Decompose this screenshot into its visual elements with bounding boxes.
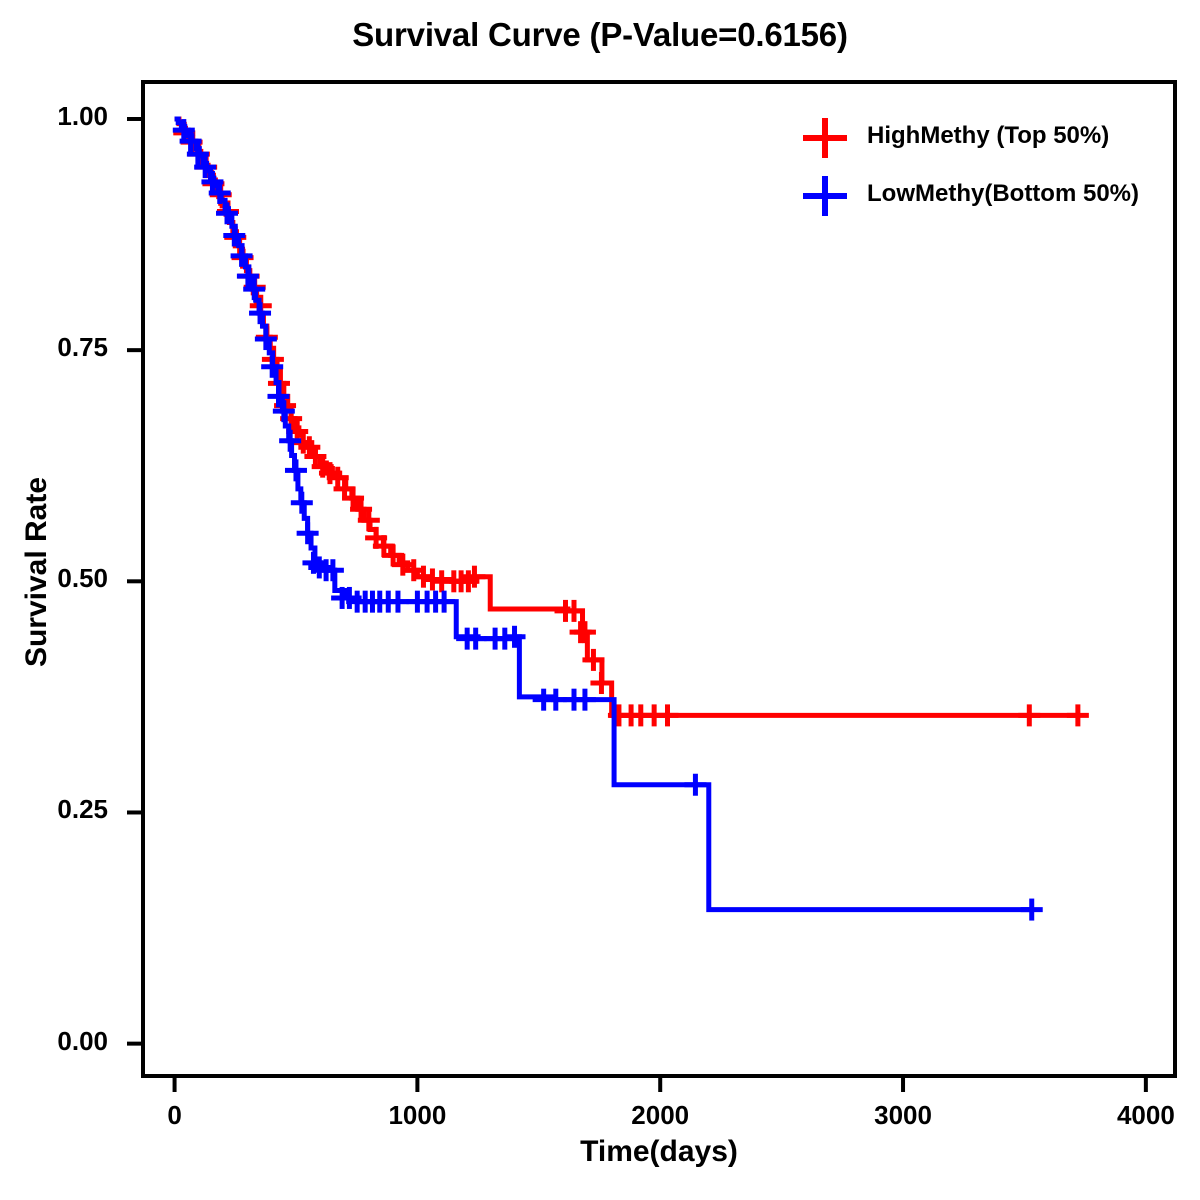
tick-marks: [127, 119, 1146, 1092]
axis-frame: [143, 82, 1175, 1076]
x-tick-label: 3000: [843, 1100, 963, 1131]
x-tick-label: 1000: [357, 1100, 477, 1131]
y-tick-label: 0.75: [18, 332, 108, 363]
survival-curve-figure: Survival Curve (P-Value=0.6156) Survival…: [0, 0, 1200, 1200]
legend-item-0: HighMethy (Top 50%): [867, 122, 1109, 150]
x-tick-label: 4000: [1086, 1100, 1200, 1131]
y-tick-label: 0.25: [18, 794, 108, 825]
x-tick-label: 2000: [600, 1100, 720, 1131]
series-layer: [173, 119, 1089, 921]
legend-item-1: LowMethy(Bottom 50%): [867, 180, 1139, 208]
y-tick-label: 0.50: [18, 563, 108, 594]
legend-markers: [803, 118, 847, 216]
y-tick-label: 1.00: [18, 101, 108, 132]
x-tick-label: 0: [115, 1100, 235, 1131]
y-tick-label: 0.00: [18, 1026, 108, 1057]
